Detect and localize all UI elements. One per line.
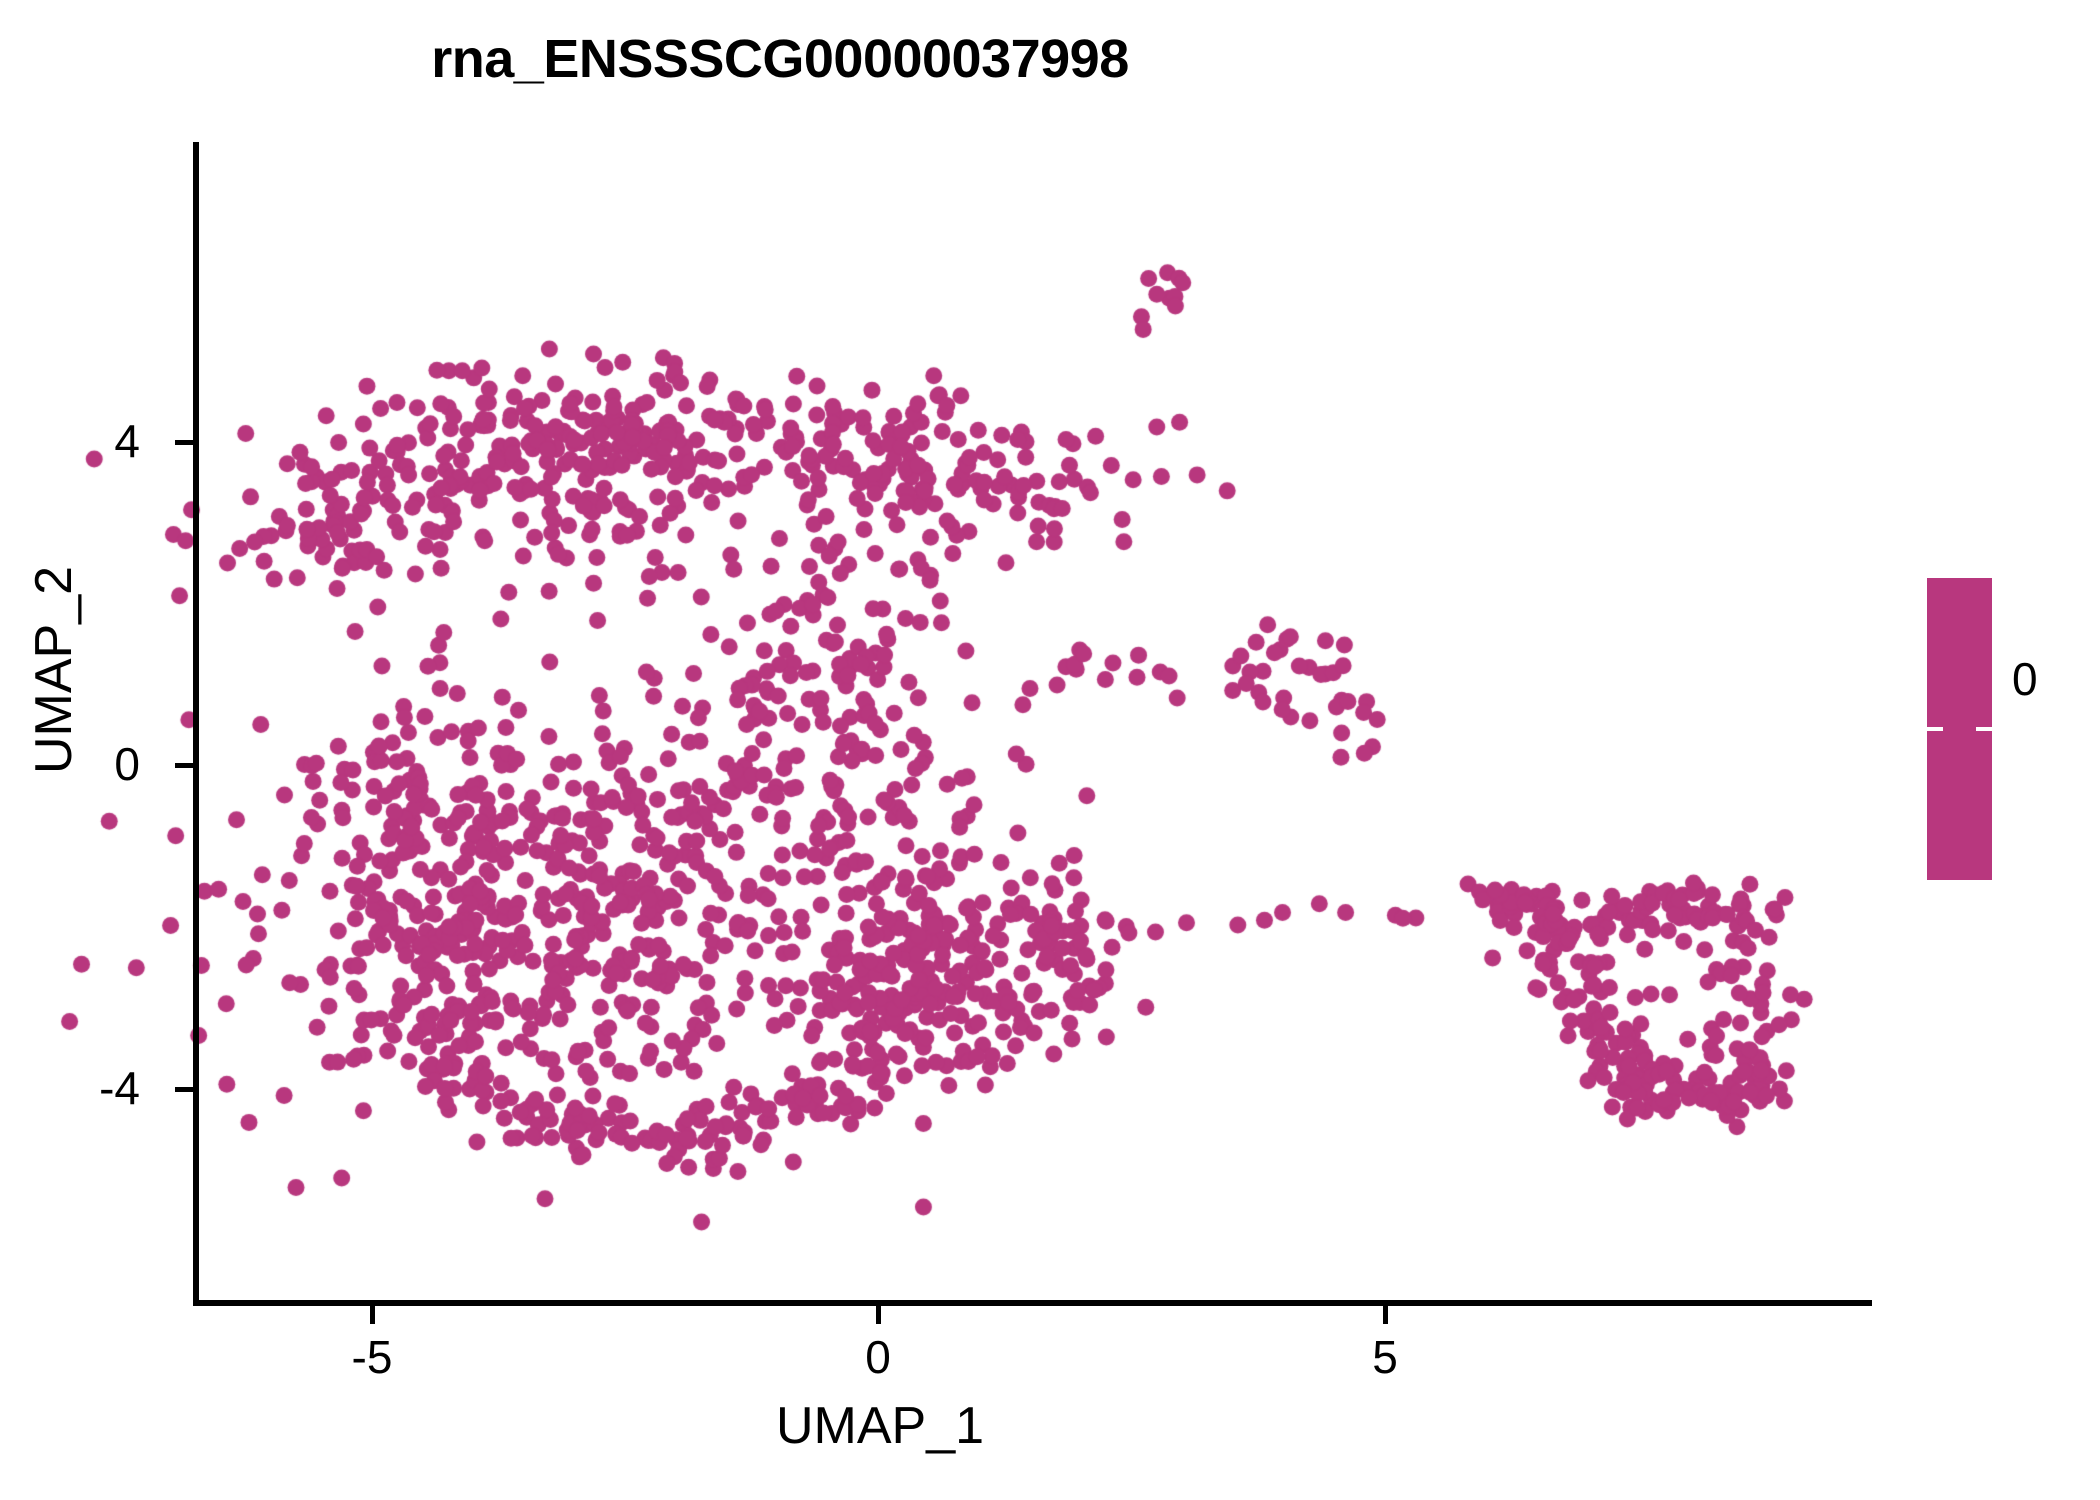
x-tick-label-0: 0 — [818, 1332, 938, 1382]
y-tick-label-4: 4 — [80, 418, 140, 464]
colorbar-tick-left — [1927, 727, 1943, 731]
y-tick-0 — [175, 763, 193, 768]
legend-colorbar — [1927, 578, 1992, 880]
x-tick-label-5: 5 — [1325, 1332, 1445, 1382]
colorbar-gradient — [1927, 578, 1992, 880]
x-tick-label-minus5: -5 — [312, 1332, 432, 1382]
y-tick-label-minus4: -4 — [80, 1065, 140, 1111]
y-tick-minus4 — [175, 1087, 193, 1092]
x-tick-minus5 — [370, 1306, 375, 1324]
umap-feature-plot: rna_ENSSSCG00000037998 4 0 -4 -5 0 5 UMA… — [0, 0, 2100, 1500]
x-tick-0 — [876, 1306, 881, 1324]
x-axis-title: UMAP_1 — [180, 1396, 1580, 1456]
y-tick-label-0: 0 — [80, 741, 140, 787]
legend-tick-label: 0 — [2012, 528, 2038, 830]
y-tick-4 — [175, 440, 193, 445]
y-axis-title: UMAP_2 — [24, 420, 84, 920]
x-axis-line — [193, 1300, 1872, 1306]
colorbar-tick-right — [1976, 727, 1992, 731]
scatter-plot-canvas — [0, 0, 2100, 1500]
y-axis-line — [193, 142, 199, 1306]
x-tick-5 — [1383, 1306, 1388, 1324]
